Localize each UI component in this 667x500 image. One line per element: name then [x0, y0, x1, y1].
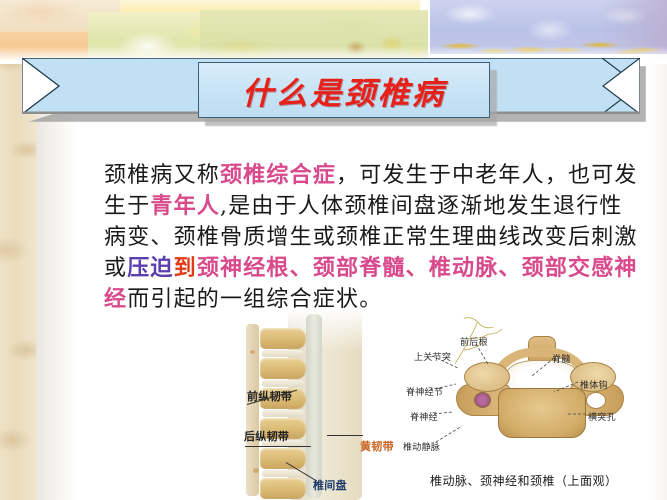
- body-segment-0: 颈椎病又称: [104, 163, 220, 188]
- figure-caption: 椎动脉、颈神经和颈椎（上面观）: [430, 472, 618, 489]
- disc-graphic: [262, 350, 304, 357]
- vertebra-body-graphic: [260, 328, 306, 349]
- label-ligamentum-flavum: 黄韧带: [360, 438, 394, 454]
- body-segment-6: 到: [174, 255, 197, 281]
- leader-line: [245, 446, 311, 447]
- body-segment-3: 青年人: [150, 193, 220, 219]
- right-figure-leader-lines: [396, 334, 666, 458]
- label-intervertebral-disc: 椎间盘: [313, 477, 347, 493]
- title-plaque: 什么是颈椎病: [198, 62, 490, 118]
- body-segment-5: 压迫: [127, 255, 173, 281]
- vertebra-body-graphic: [260, 448, 306, 469]
- texture-speck: [253, 468, 259, 473]
- slide-canvas: 什么是颈椎病 颈椎病又称颈椎综合症，可发生于中老年人，也可发生于青年人,是由于人…: [0, 0, 667, 500]
- disc-graphic: [262, 380, 304, 387]
- label-posterior-longitudinal-ligament: 后纵韧带: [244, 428, 289, 444]
- vertebra-body-graphic: [260, 358, 306, 379]
- header-decoration-band: [0, 0, 667, 60]
- disc-graphic: [262, 410, 304, 417]
- body-segment-1: 颈椎综合症: [220, 162, 336, 188]
- texture-speck: [250, 350, 255, 354]
- disc-graphic: [262, 470, 304, 477]
- vertebra-body-graphic: [260, 478, 306, 499]
- spinal-cord-graphic: [306, 314, 322, 498]
- body-segment-8: 而引起的一组综合症状。: [127, 287, 382, 312]
- page-title: 什么是颈椎病: [242, 68, 446, 113]
- leader-line: [327, 435, 363, 436]
- figure-sagittal-spine: [240, 310, 420, 500]
- body-paragraph: 颈椎病又称颈椎综合症，可发生于中老年人，也可发生于青年人,是由于人体颈椎间盘逐渐…: [104, 160, 644, 315]
- title-ribbon: 什么是颈椎病: [22, 58, 646, 124]
